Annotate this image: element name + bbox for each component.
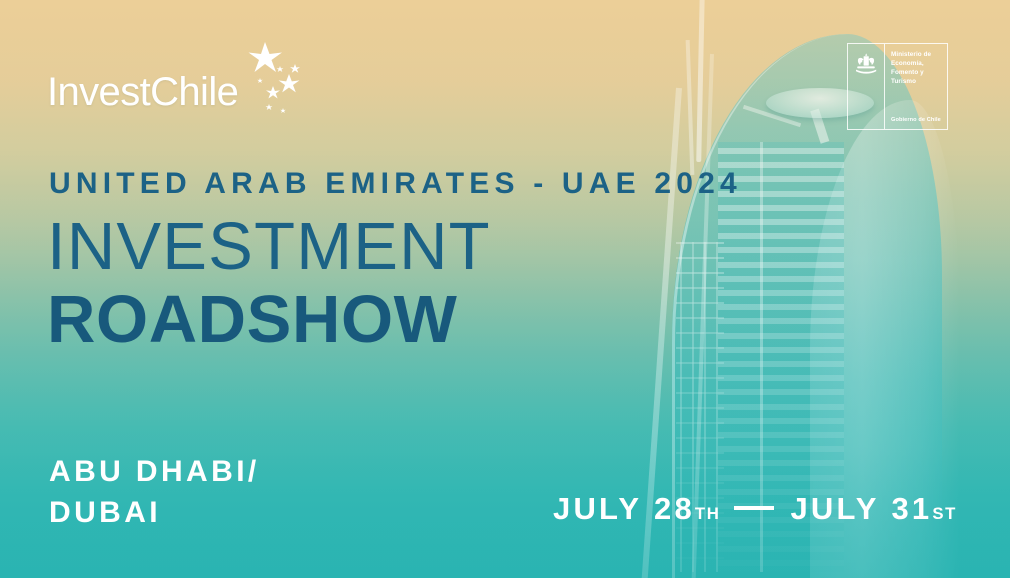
page-title-line-1: INVESTMENT [47,213,491,280]
investchile-logo-text: InvestChile [47,72,238,112]
city-line-1: ABU DHABI/ [49,452,260,493]
event-location-year: UNITED ARAB EMIRATES - UAE 2024 [49,167,742,201]
end-month: JULY [790,491,879,527]
invest-chile-roadshow-banner: InvestChile [0,0,1010,578]
investchile-logo: InvestChile [47,72,238,112]
end-day: 31 [891,491,932,527]
page-title-line-2: ROADSHOW [47,286,458,353]
start-ordinal: TH [695,504,721,524]
ministry-logo: Ministerio de Economía, Fomento y Turism… [847,43,948,130]
ministry-title-line-1: Ministerio de [891,51,943,60]
government-label: Gobierno de Chile [891,117,941,123]
ministry-text-cell: Ministerio de Economía, Fomento y Turism… [885,44,947,129]
date-range-dash [734,506,774,510]
ministry-emblem-cell [848,44,885,129]
ministry-title-line-2: Economía, [891,60,943,69]
banner-content: InvestChile [0,0,1010,578]
ministry-title-line-3: Fomento y [891,69,943,78]
event-dates: JULY 28 TH JULY 31 ST [553,491,957,527]
stars-cluster-icon [233,40,313,130]
ministry-title: Ministerio de Economía, Fomento y Turism… [891,51,943,87]
start-month: JULY [553,491,642,527]
ministry-title-line-4: Turismo [891,78,943,87]
start-day: 28 [654,491,695,527]
event-cities: ABU DHABI/ DUBAI [49,452,260,534]
city-line-2: DUBAI [49,493,260,534]
chile-coat-of-arms-icon [853,52,879,78]
end-ordinal: ST [932,504,957,524]
